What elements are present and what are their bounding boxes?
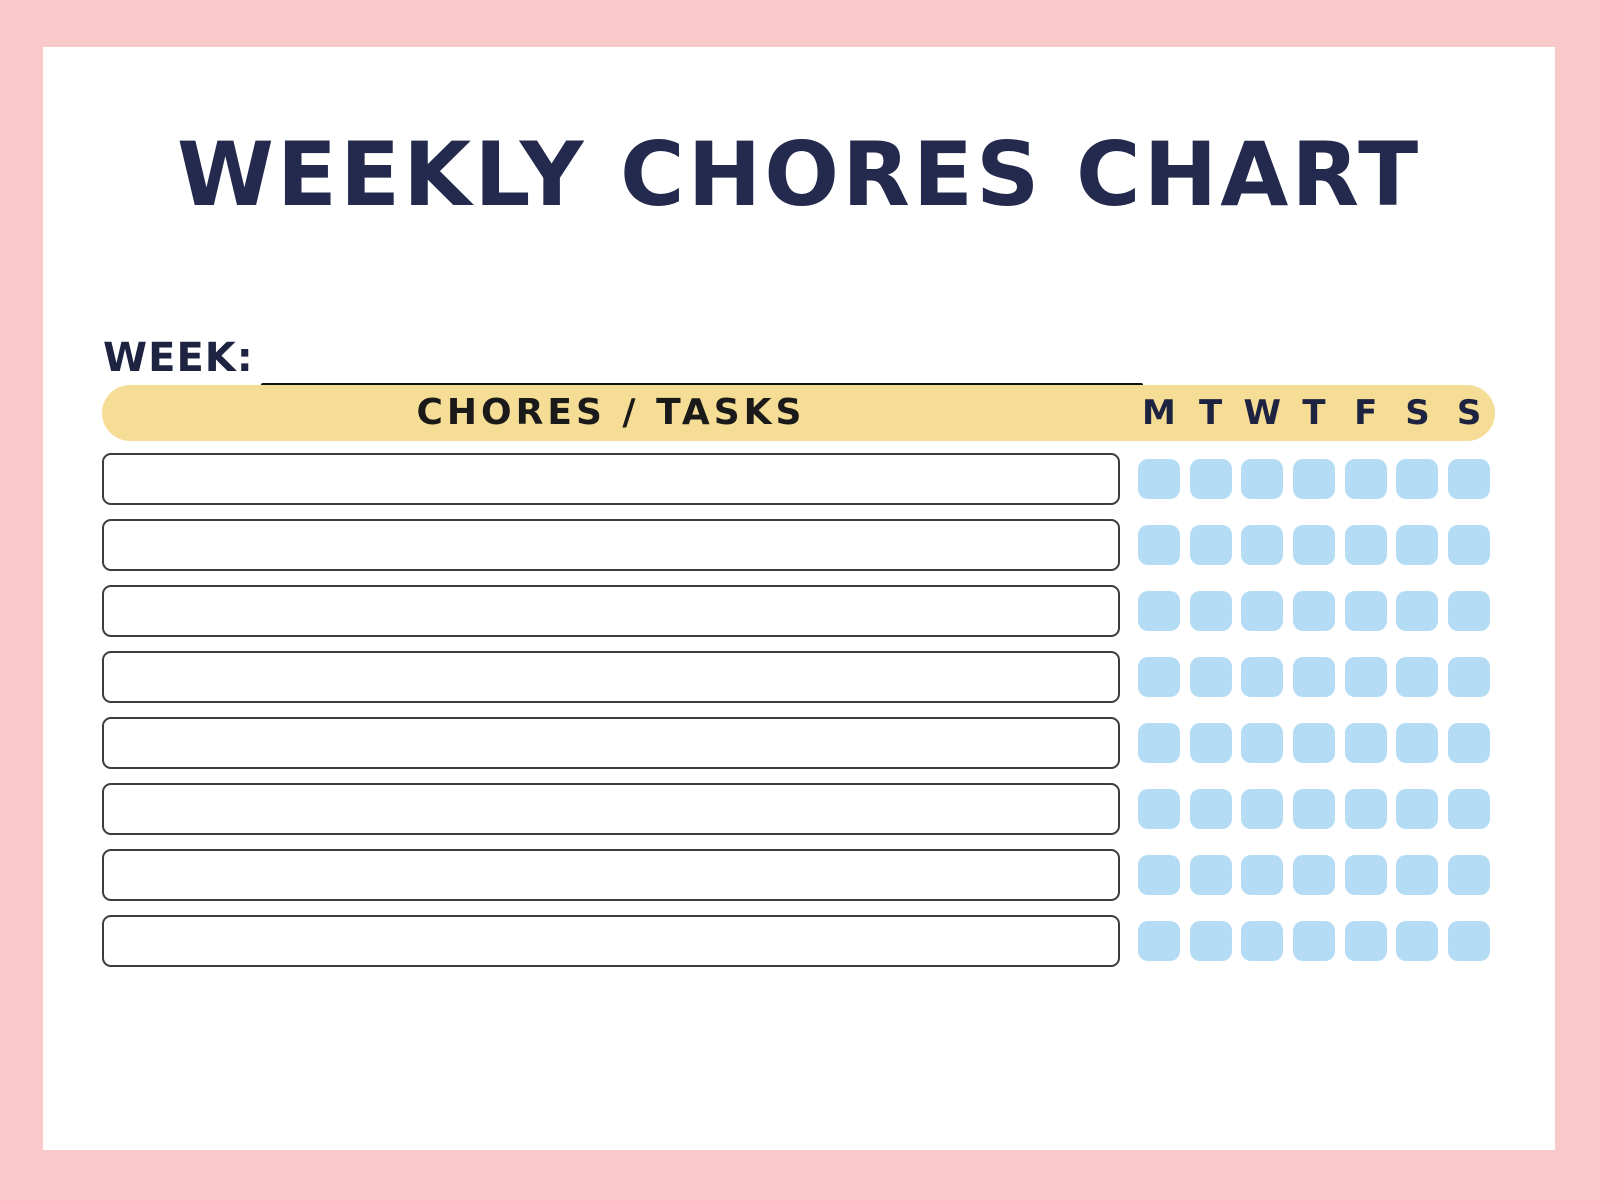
day-cell (1133, 789, 1185, 829)
task-input-0[interactable] (102, 453, 1120, 505)
day-cell (1340, 789, 1392, 829)
checkbox-r5-d6[interactable] (1448, 789, 1490, 829)
checkbox-r4-d6[interactable] (1448, 723, 1490, 763)
checkbox-r6-d0[interactable] (1138, 855, 1180, 895)
day-cell (1288, 789, 1340, 829)
day-cell (1185, 591, 1237, 631)
day-cell (1392, 855, 1444, 895)
day-cell (1288, 525, 1340, 565)
checkbox-r1-d3[interactable] (1293, 525, 1335, 565)
day-cell (1288, 591, 1340, 631)
checkbox-r2-d2[interactable] (1241, 591, 1283, 631)
day-cell (1185, 657, 1237, 697)
checkbox-r1-d4[interactable] (1345, 525, 1387, 565)
task-input-6[interactable] (102, 849, 1120, 901)
table-header-bar: CHORES / TASKS MTWTFSS (102, 385, 1495, 441)
day-cell (1392, 921, 1444, 961)
day-cell (1443, 459, 1495, 499)
day-cell (1340, 657, 1392, 697)
chore-row (102, 453, 1495, 505)
checkbox-r5-d3[interactable] (1293, 789, 1335, 829)
day-cell (1133, 525, 1185, 565)
task-input-1[interactable] (102, 519, 1120, 571)
day-checkbox-group (1133, 783, 1495, 835)
day-cell (1443, 591, 1495, 631)
day-cell (1392, 789, 1444, 829)
checkbox-r2-d5[interactable] (1396, 591, 1438, 631)
week-field: WEEK: (103, 332, 1163, 392)
checkbox-r0-d6[interactable] (1448, 459, 1490, 499)
day-cell (1236, 789, 1288, 829)
day-checkbox-group (1133, 519, 1495, 571)
day-cell (1443, 855, 1495, 895)
day-cell (1443, 525, 1495, 565)
day-cell (1340, 723, 1392, 763)
day-cell (1288, 657, 1340, 697)
day-cell (1133, 855, 1185, 895)
day-cell (1133, 723, 1185, 763)
day-cell (1236, 591, 1288, 631)
chores-tasks-header: CHORES / TASKS (102, 385, 1120, 441)
page-title: WEEKLY CHORES CHART (43, 125, 1555, 225)
checkbox-r7-d0[interactable] (1138, 921, 1180, 961)
day-cell (1288, 855, 1340, 895)
day-cell (1443, 723, 1495, 763)
day-cell (1340, 855, 1392, 895)
task-input-5[interactable] (102, 783, 1120, 835)
checkbox-r0-d0[interactable] (1138, 459, 1180, 499)
checkbox-r5-d0[interactable] (1138, 789, 1180, 829)
day-checkbox-group (1133, 915, 1495, 967)
checkbox-r1-d1[interactable] (1190, 525, 1232, 565)
day-cell (1236, 657, 1288, 697)
day-cell (1443, 921, 1495, 961)
checkbox-r1-d5[interactable] (1396, 525, 1438, 565)
day-cell (1340, 459, 1392, 499)
checkbox-r3-d1[interactable] (1190, 657, 1232, 697)
day-cell (1236, 525, 1288, 565)
task-input-3[interactable] (102, 651, 1120, 703)
checkbox-r0-d3[interactable] (1293, 459, 1335, 499)
checkbox-r5-d2[interactable] (1241, 789, 1283, 829)
week-label: WEEK: (103, 332, 254, 384)
chart-sheet: WEEKLY CHORES CHART WEEK: CHORES / TASKS… (43, 47, 1555, 1150)
checkbox-r4-d0[interactable] (1138, 723, 1180, 763)
checkbox-r7-d5[interactable] (1396, 921, 1438, 961)
day-cell (1236, 921, 1288, 961)
day-cell (1392, 657, 1444, 697)
day-cell (1133, 591, 1185, 631)
checkbox-r2-d6[interactable] (1448, 591, 1490, 631)
checkbox-r2-d4[interactable] (1345, 591, 1387, 631)
day-cell (1185, 789, 1237, 829)
day-cell (1236, 855, 1288, 895)
day-cell (1288, 921, 1340, 961)
checkbox-r3-d0[interactable] (1138, 657, 1180, 697)
checkbox-r1-d0[interactable] (1138, 525, 1180, 565)
day-checkbox-group (1133, 585, 1495, 637)
task-input-4[interactable] (102, 717, 1120, 769)
checkbox-r6-d5[interactable] (1396, 855, 1438, 895)
checkbox-r3-d5[interactable] (1396, 657, 1438, 697)
day-checkbox-group (1133, 717, 1495, 769)
printable-page: WEEKLY CHORES CHART WEEK: CHORES / TASKS… (0, 0, 1600, 1200)
day-header-4: F (1340, 385, 1392, 441)
checkbox-r6-d2[interactable] (1241, 855, 1283, 895)
checkbox-r4-d1[interactable] (1190, 723, 1232, 763)
day-cell (1236, 723, 1288, 763)
checkbox-r2-d0[interactable] (1138, 591, 1180, 631)
day-cell (1185, 723, 1237, 763)
checkbox-r6-d1[interactable] (1190, 855, 1232, 895)
day-cell (1392, 525, 1444, 565)
day-cell (1185, 855, 1237, 895)
day-cell (1340, 591, 1392, 631)
checkbox-r3-d3[interactable] (1293, 657, 1335, 697)
checkbox-r0-d2[interactable] (1241, 459, 1283, 499)
chore-row (102, 519, 1495, 571)
checkbox-r2-d1[interactable] (1190, 591, 1232, 631)
checkbox-r7-d6[interactable] (1448, 921, 1490, 961)
chore-row (102, 783, 1495, 835)
checkbox-r0-d5[interactable] (1396, 459, 1438, 499)
checkbox-r3-d2[interactable] (1241, 657, 1283, 697)
day-cell (1340, 525, 1392, 565)
day-header-3: T (1288, 385, 1340, 441)
checkbox-r1-d2[interactable] (1241, 525, 1283, 565)
checkbox-r4-d5[interactable] (1396, 723, 1438, 763)
day-cell (1443, 657, 1495, 697)
checkbox-r6-d4[interactable] (1345, 855, 1387, 895)
checkbox-r2-d3[interactable] (1293, 591, 1335, 631)
day-header-row: MTWTFSS (1133, 385, 1495, 441)
checkbox-r7-d4[interactable] (1345, 921, 1387, 961)
checkbox-r7-d2[interactable] (1241, 921, 1283, 961)
checkbox-r6-d3[interactable] (1293, 855, 1335, 895)
day-cell (1340, 921, 1392, 961)
day-cell (1236, 459, 1288, 499)
day-checkbox-group (1133, 849, 1495, 901)
day-header-5: S (1392, 385, 1444, 441)
checkbox-r0-d4[interactable] (1345, 459, 1387, 499)
day-cell (1133, 921, 1185, 961)
day-cell (1185, 921, 1237, 961)
checkbox-r3-d4[interactable] (1345, 657, 1387, 697)
day-cell (1185, 525, 1237, 565)
checkbox-r5-d5[interactable] (1396, 789, 1438, 829)
day-header-2: W (1236, 385, 1288, 441)
checkbox-r4-d4[interactable] (1345, 723, 1387, 763)
day-cell (1133, 657, 1185, 697)
day-cell (1443, 789, 1495, 829)
day-cell (1392, 459, 1444, 499)
checkbox-r4-d3[interactable] (1293, 723, 1335, 763)
day-cell (1392, 591, 1444, 631)
chore-row (102, 585, 1495, 637)
day-cell (1133, 459, 1185, 499)
chore-row (102, 651, 1495, 703)
task-input-7[interactable] (102, 915, 1120, 967)
checkbox-r7-d1[interactable] (1190, 921, 1232, 961)
day-header-1: T (1185, 385, 1237, 441)
day-header-6: S (1443, 385, 1495, 441)
checkbox-r5-d4[interactable] (1345, 789, 1387, 829)
day-cell (1185, 459, 1237, 499)
chore-row (102, 915, 1495, 967)
checkbox-r5-d1[interactable] (1190, 789, 1232, 829)
chore-rows (102, 453, 1495, 981)
day-cell (1392, 723, 1444, 763)
day-header-0: M (1133, 385, 1185, 441)
checkbox-r4-d2[interactable] (1241, 723, 1283, 763)
checkbox-r3-d6[interactable] (1448, 657, 1490, 697)
checkbox-r6-d6[interactable] (1448, 855, 1490, 895)
checkbox-r1-d6[interactable] (1448, 525, 1490, 565)
checkbox-r7-d3[interactable] (1293, 921, 1335, 961)
checkbox-r0-d1[interactable] (1190, 459, 1232, 499)
day-cell (1288, 459, 1340, 499)
day-checkbox-group (1133, 453, 1495, 505)
day-checkbox-group (1133, 651, 1495, 703)
chore-row (102, 717, 1495, 769)
chore-row (102, 849, 1495, 901)
task-input-2[interactable] (102, 585, 1120, 637)
day-cell (1288, 723, 1340, 763)
